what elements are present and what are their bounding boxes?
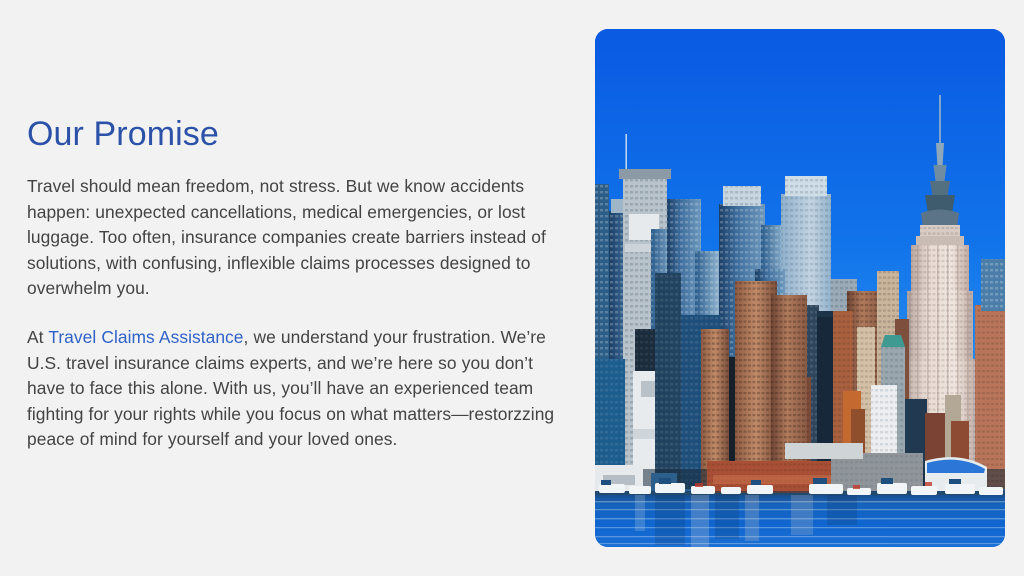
paragraph-2-prefix: At — [27, 327, 48, 347]
slide: Our Promise Travel should mean freedom, … — [0, 0, 1024, 576]
brand-name-link[interactable]: Travel Claims Assistance — [48, 327, 243, 347]
new-york-city-skyline-photo — [595, 29, 1005, 547]
promise-paragraph-2: At Travel Claims Assistance, we understa… — [27, 325, 575, 453]
text-column: Our Promise Travel should mean freedom, … — [27, 112, 575, 453]
promise-paragraph-1: Travel should mean freedom, not stress. … — [27, 174, 575, 302]
page-title: Our Promise — [27, 112, 575, 156]
paragraph-spacer — [27, 302, 575, 325]
